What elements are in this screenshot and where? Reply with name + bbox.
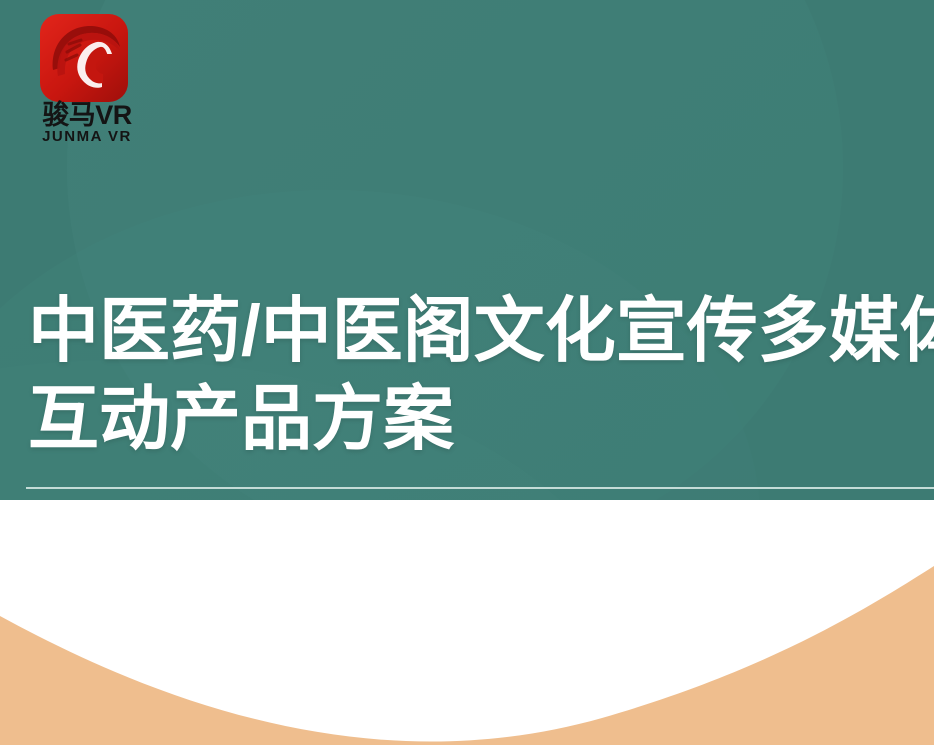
- page-title: 中医药/中医阁文化宣传多媒体 互动产品方案: [28, 288, 934, 468]
- slide-date: 2024.4.7: [30, 598, 550, 628]
- title-divider: [26, 487, 934, 489]
- slide-footer: 浙江骏马信息科技有限公司 2024.4.7: [30, 568, 550, 628]
- logo-english-text: JUNMA VR: [22, 128, 152, 145]
- page-title-line2: 互动产品方案: [28, 376, 934, 464]
- brand-logo: 骏马VR JUNMA VR: [22, 14, 152, 142]
- title-slide: 骏马VR JUNMA VR 中医药/中医阁文化宣传多媒体 互动产品方案 浙江骏马…: [0, 0, 934, 745]
- logo-chinese-text: 骏马VR: [22, 100, 152, 130]
- horse-head-icon: [40, 14, 128, 102]
- page-title-line1: 中医药/中医阁文化宣传多媒体: [28, 288, 934, 376]
- company-name: 浙江骏马信息科技有限公司: [30, 568, 550, 598]
